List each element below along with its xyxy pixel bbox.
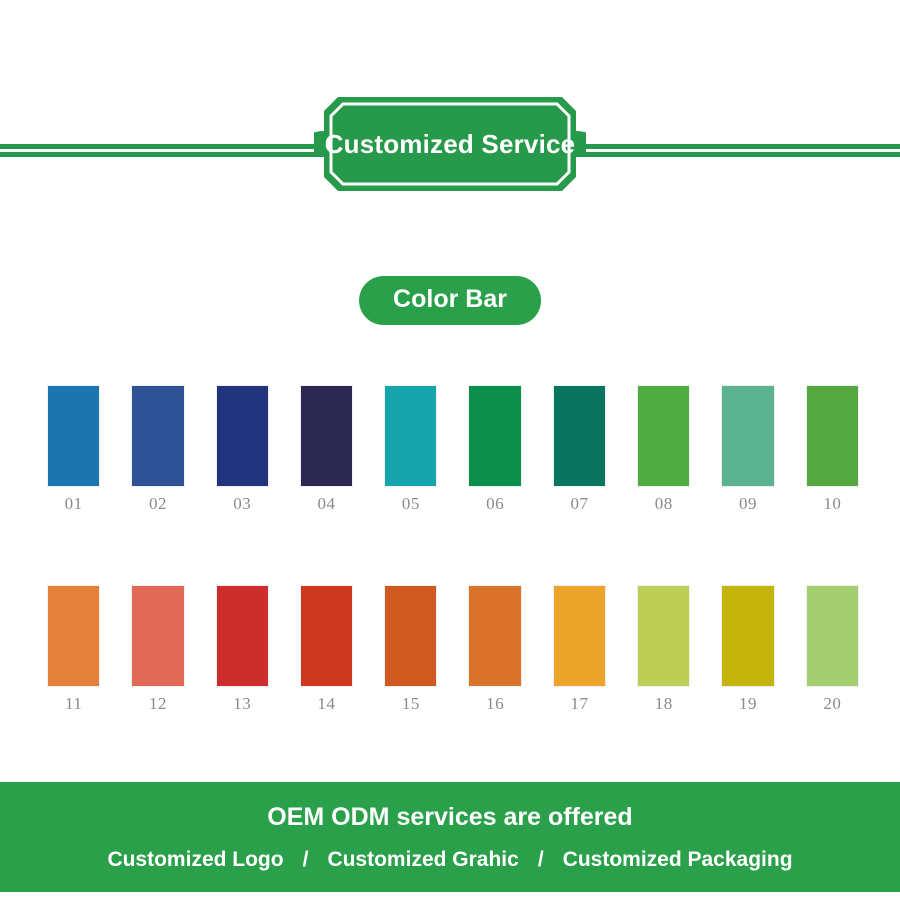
color-code-label: 08 (655, 495, 673, 512)
color-chip-13[interactable] (217, 586, 268, 686)
swatch-cell[interactable]: 01 (48, 386, 99, 512)
swatch-cell[interactable]: 11 (48, 586, 99, 712)
color-code-label: 16 (486, 695, 504, 712)
color-chip-09[interactable] (722, 386, 773, 486)
color-chip-08[interactable] (638, 386, 689, 486)
color-chip-15[interactable] (385, 586, 436, 686)
color-code-label: 13 (233, 695, 251, 712)
footer-options: Customized Logo / Customized Grahic / Cu… (107, 849, 792, 870)
swatch-cell[interactable]: 14 (301, 586, 352, 712)
color-code-label: 01 (65, 495, 83, 512)
swatch-grid-row-1: 01 02 03 04 05 06 07 08 09 10 (48, 386, 858, 512)
color-chip-16[interactable] (469, 586, 520, 686)
swatch-cell[interactable]: 02 (132, 386, 183, 512)
footer-headline: OEM ODM services are offered (267, 805, 632, 830)
color-code-label: 03 (233, 495, 251, 512)
footer-option-packaging: Customized Packaging (563, 849, 793, 870)
color-code-label: 04 (318, 495, 336, 512)
color-chip-20[interactable] (807, 586, 858, 686)
swatch-cell[interactable]: 17 (554, 586, 605, 712)
color-code-label: 09 (739, 495, 757, 512)
color-code-label: 14 (318, 695, 336, 712)
swatch-grid-row-2: 11 12 13 14 15 16 17 18 19 20 (48, 586, 858, 712)
color-code-label: 07 (570, 495, 588, 512)
color-chip-14[interactable] (301, 586, 352, 686)
swatch-cell[interactable]: 16 (469, 586, 520, 712)
header-plaque: Customized Service (314, 95, 586, 193)
color-chip-06[interactable] (469, 386, 520, 486)
color-code-label: 02 (149, 495, 167, 512)
color-bar-pill: Color Bar (359, 276, 541, 325)
swatch-cell[interactable]: 08 (638, 386, 689, 512)
footer-separator: / (538, 849, 544, 870)
color-chip-10[interactable] (807, 386, 858, 486)
color-code-label: 10 (823, 495, 841, 512)
color-chip-02[interactable] (132, 386, 183, 486)
page-title: Customized Service (314, 95, 586, 193)
color-chip-01[interactable] (48, 386, 99, 486)
color-code-label: 11 (65, 695, 82, 712)
color-code-label: 18 (655, 695, 673, 712)
swatch-cell[interactable]: 09 (722, 386, 773, 512)
swatch-cell[interactable]: 03 (217, 386, 268, 512)
swatch-cell[interactable]: 07 (554, 386, 605, 512)
footer-option-logo: Customized Logo (107, 849, 283, 870)
color-chip-05[interactable] (385, 386, 436, 486)
swatch-cell[interactable]: 15 (385, 586, 436, 712)
color-code-label: 06 (486, 495, 504, 512)
color-chip-18[interactable] (638, 586, 689, 686)
color-chip-11[interactable] (48, 586, 99, 686)
swatch-cell[interactable]: 19 (722, 586, 773, 712)
color-code-label: 20 (823, 695, 841, 712)
footer-separator: / (303, 849, 309, 870)
color-chip-04[interactable] (301, 386, 352, 486)
color-chip-19[interactable] (722, 586, 773, 686)
swatch-cell[interactable]: 12 (132, 586, 183, 712)
color-chip-07[interactable] (554, 386, 605, 486)
swatch-cell[interactable]: 18 (638, 586, 689, 712)
color-chip-03[interactable] (217, 386, 268, 486)
swatch-cell[interactable]: 20 (807, 586, 858, 712)
swatch-cell[interactable]: 06 (469, 386, 520, 512)
color-code-label: 17 (570, 695, 588, 712)
swatch-cell[interactable]: 05 (385, 386, 436, 512)
swatch-cell[interactable]: 13 (217, 586, 268, 712)
color-chip-12[interactable] (132, 586, 183, 686)
footer-option-graphic: Customized Grahic (327, 849, 518, 870)
color-code-label: 12 (149, 695, 167, 712)
header-banner: Customized Service (0, 95, 900, 205)
color-chip-17[interactable] (554, 586, 605, 686)
footer-banner: OEM ODM services are offered Customized … (0, 782, 900, 892)
swatch-cell[interactable]: 04 (301, 386, 352, 512)
color-code-label: 19 (739, 695, 757, 712)
color-code-label: 05 (402, 495, 420, 512)
swatch-cell[interactable]: 10 (807, 386, 858, 512)
color-code-label: 15 (402, 695, 420, 712)
